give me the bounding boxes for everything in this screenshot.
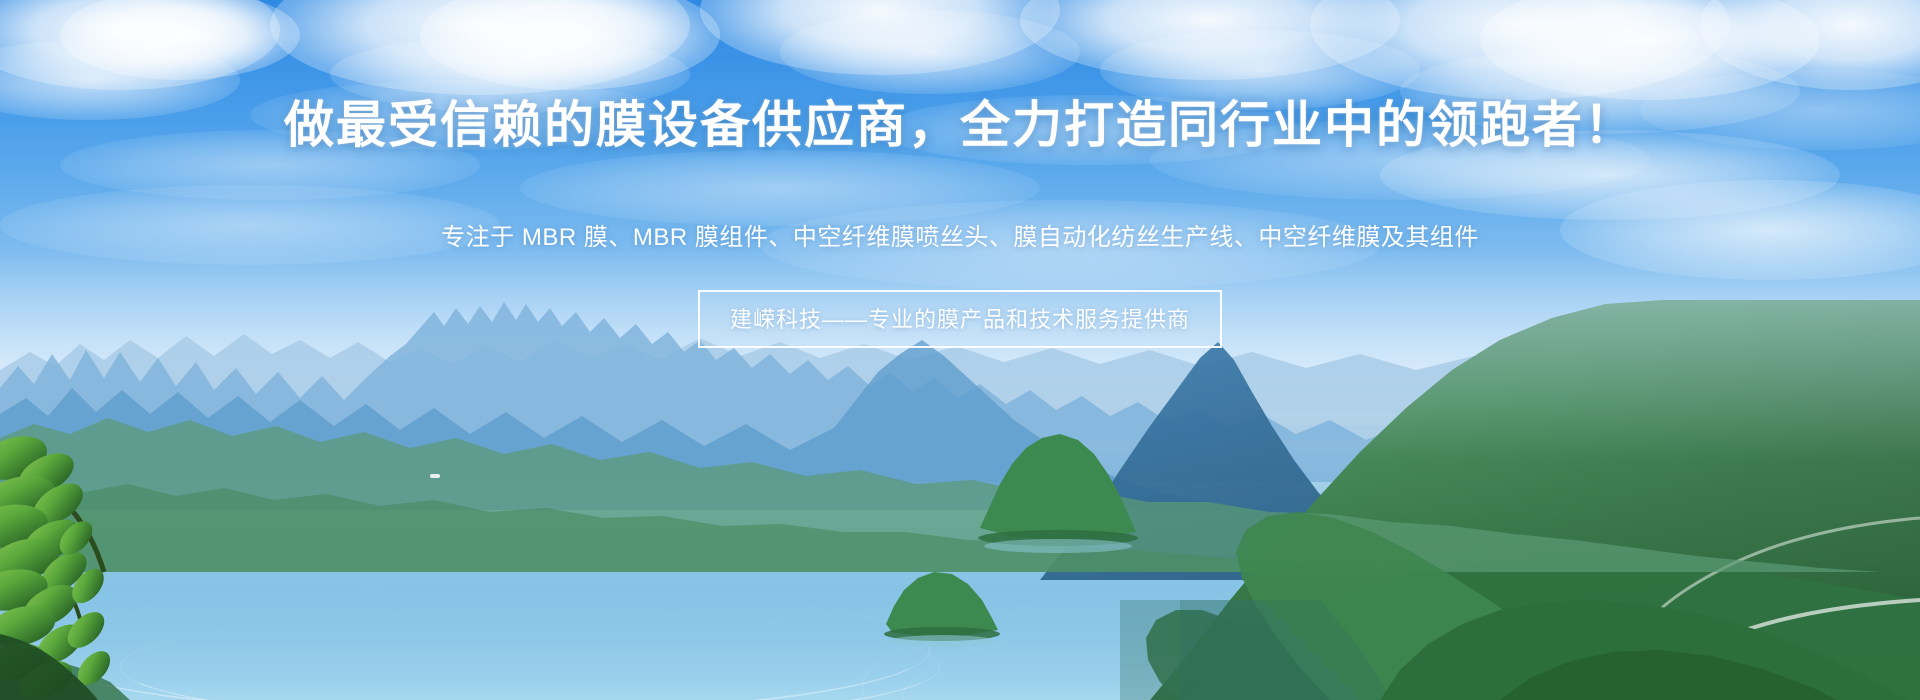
foreground-foliage-right [0,540,1920,700]
hero-banner: 做最受信赖的膜设备供应商，全力打造同行业中的领跑者！ 专注于 MBR 膜、MBR… [0,0,1920,700]
